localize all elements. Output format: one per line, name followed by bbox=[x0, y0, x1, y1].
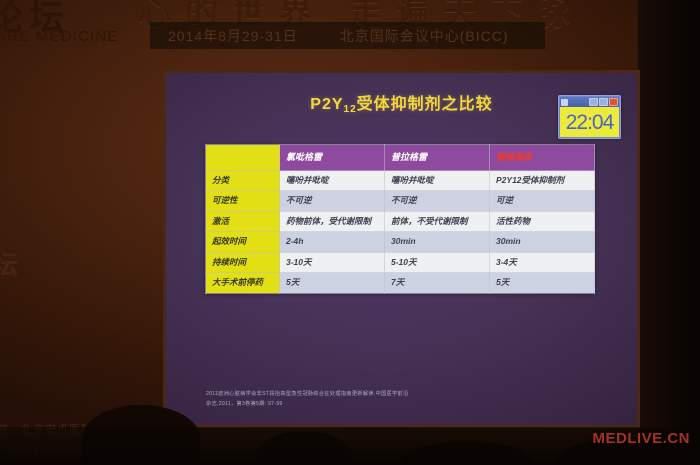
cell-activation-clopidogrel: 药物前体，受代谢限制 bbox=[280, 211, 385, 231]
clock-icon bbox=[561, 99, 568, 106]
footnote-line-1: 2011欧洲心脏病学会非ST段抬高型急性冠脉综合征处理指南更新解读.中国医学前沿 bbox=[206, 390, 536, 399]
slide-title-main: P2Y bbox=[310, 96, 343, 113]
cell-preop-clopidogrel: 5天 bbox=[280, 273, 385, 293]
slide-title-subscript: 12 bbox=[344, 104, 357, 115]
table-row: 持续时间 3-10天 5-10天 3-4天 bbox=[206, 252, 595, 272]
row-label-onset-time: 起效时间 bbox=[206, 232, 280, 252]
table-corner-cell bbox=[206, 145, 280, 171]
column-header-clopidogrel: 氯吡格雷 bbox=[280, 145, 385, 171]
cell-preop-prasugrel: 7天 bbox=[385, 273, 490, 293]
row-label-preop-discontinuation: 大手术前停药 bbox=[206, 273, 280, 293]
maximize-icon[interactable] bbox=[599, 98, 608, 106]
cell-classification-ticagrelor: P2Y12受体抑制剂 bbox=[490, 171, 595, 191]
clock-body: 22:04 bbox=[560, 107, 619, 137]
banner-strip: 2014年8月29-31日 北京国际会议中心(BICC) bbox=[150, 22, 545, 49]
table-row: 可逆性 不可逆 不可逆 可逆 bbox=[206, 191, 595, 211]
cell-reversibility-clopidogrel: 不可逆 bbox=[280, 191, 385, 211]
table-row: 大手术前停药 5天 7天 5天 bbox=[206, 273, 595, 293]
projection-screen-frame: P2Y12受体抑制剂之比较 22:04 bbox=[163, 70, 640, 428]
clock-time: 22:04 bbox=[566, 112, 614, 133]
table-row: 分类 噻吩并吡啶 噻吩并吡啶 P2Y12受体抑制剂 bbox=[206, 171, 595, 191]
cell-onset-prasugrel: 30min bbox=[385, 232, 490, 252]
table-row: 激活 药物前体，受代谢限制 前体，不受代谢限制 活性药物 bbox=[206, 211, 595, 231]
column-header-ticagrelor: 替格瑞洛 bbox=[490, 145, 595, 171]
minimize-icon[interactable] bbox=[589, 98, 598, 106]
watermark: MEDLIVE.CN bbox=[592, 430, 690, 447]
cell-onset-clopidogrel: 2-4h bbox=[280, 232, 385, 252]
cell-activation-ticagrelor: 活性药物 bbox=[490, 211, 595, 231]
row-label-duration: 持续时间 bbox=[206, 252, 280, 272]
row-label-activation: 激活 bbox=[206, 211, 280, 231]
column-header-prasugrel: 普拉格雷 bbox=[385, 145, 490, 171]
cell-activation-prasugrel: 前体，不受代谢限制 bbox=[385, 211, 490, 231]
table-body: 分类 噻吩并吡啶 噻吩并吡啶 P2Y12受体抑制剂 可逆性 不可逆 不可逆 可逆… bbox=[206, 171, 595, 294]
close-icon[interactable] bbox=[609, 98, 618, 106]
cell-onset-ticagrelor: 30min bbox=[490, 232, 595, 252]
room-dark-right bbox=[638, 0, 700, 465]
projection-screen: P2Y12受体抑制剂之比较 22:04 bbox=[166, 73, 637, 425]
cell-duration-ticagrelor: 3-4天 bbox=[490, 252, 595, 272]
cell-classification-clopidogrel: 噻吩并吡啶 bbox=[280, 171, 385, 191]
table-header-row: 氯吡格雷 普拉格雷 替格瑞洛 bbox=[206, 145, 595, 171]
venue-side-logo: 坛 bbox=[0, 245, 18, 282]
slide-title-rest: 受体抑制剂之比较 bbox=[357, 96, 493, 113]
banner-venue: 北京国际会议中心(BICC) bbox=[340, 26, 509, 46]
clock-titlebar[interactable] bbox=[560, 97, 619, 107]
table-row: 起效时间 2-4h 30min 30min bbox=[206, 232, 595, 252]
conference-photo: 论坛 ARE MEDICINE 心的世界 走遍天下脉 2014年8月29-31日… bbox=[0, 0, 700, 465]
cell-reversibility-ticagrelor: 可逆 bbox=[490, 191, 595, 211]
slide-footnote: 2011欧洲心脏病学会非ST段抬高型急性冠脉综合征处理指南更新解读.中国医学前沿… bbox=[206, 390, 536, 409]
row-label-reversibility: 可逆性 bbox=[206, 191, 280, 211]
cell-preop-ticagrelor: 5天 bbox=[490, 273, 595, 293]
banner-date: 2014年8月29-31日 bbox=[168, 26, 298, 46]
venue-logo-en: ARE MEDICINE bbox=[0, 28, 119, 45]
clock-window[interactable]: 22:04 bbox=[558, 95, 621, 139]
cell-duration-prasugrel: 5-10天 bbox=[385, 252, 490, 272]
footnote-line-2: 杂志,2011，第3卷第5期: 97-99 bbox=[206, 400, 536, 409]
table-head: 氯吡格雷 普拉格雷 替格瑞洛 bbox=[206, 145, 595, 171]
row-label-classification: 分类 bbox=[206, 171, 280, 191]
comparison-table: 氯吡格雷 普拉格雷 替格瑞洛 分类 噻吩并吡啶 噻吩并吡啶 P2Y12受体抑制剂… bbox=[205, 144, 595, 294]
cell-reversibility-prasugrel: 不可逆 bbox=[385, 191, 490, 211]
cell-duration-clopidogrel: 3-10天 bbox=[280, 252, 385, 272]
cell-classification-prasugrel: 噻吩并吡啶 bbox=[385, 171, 490, 191]
